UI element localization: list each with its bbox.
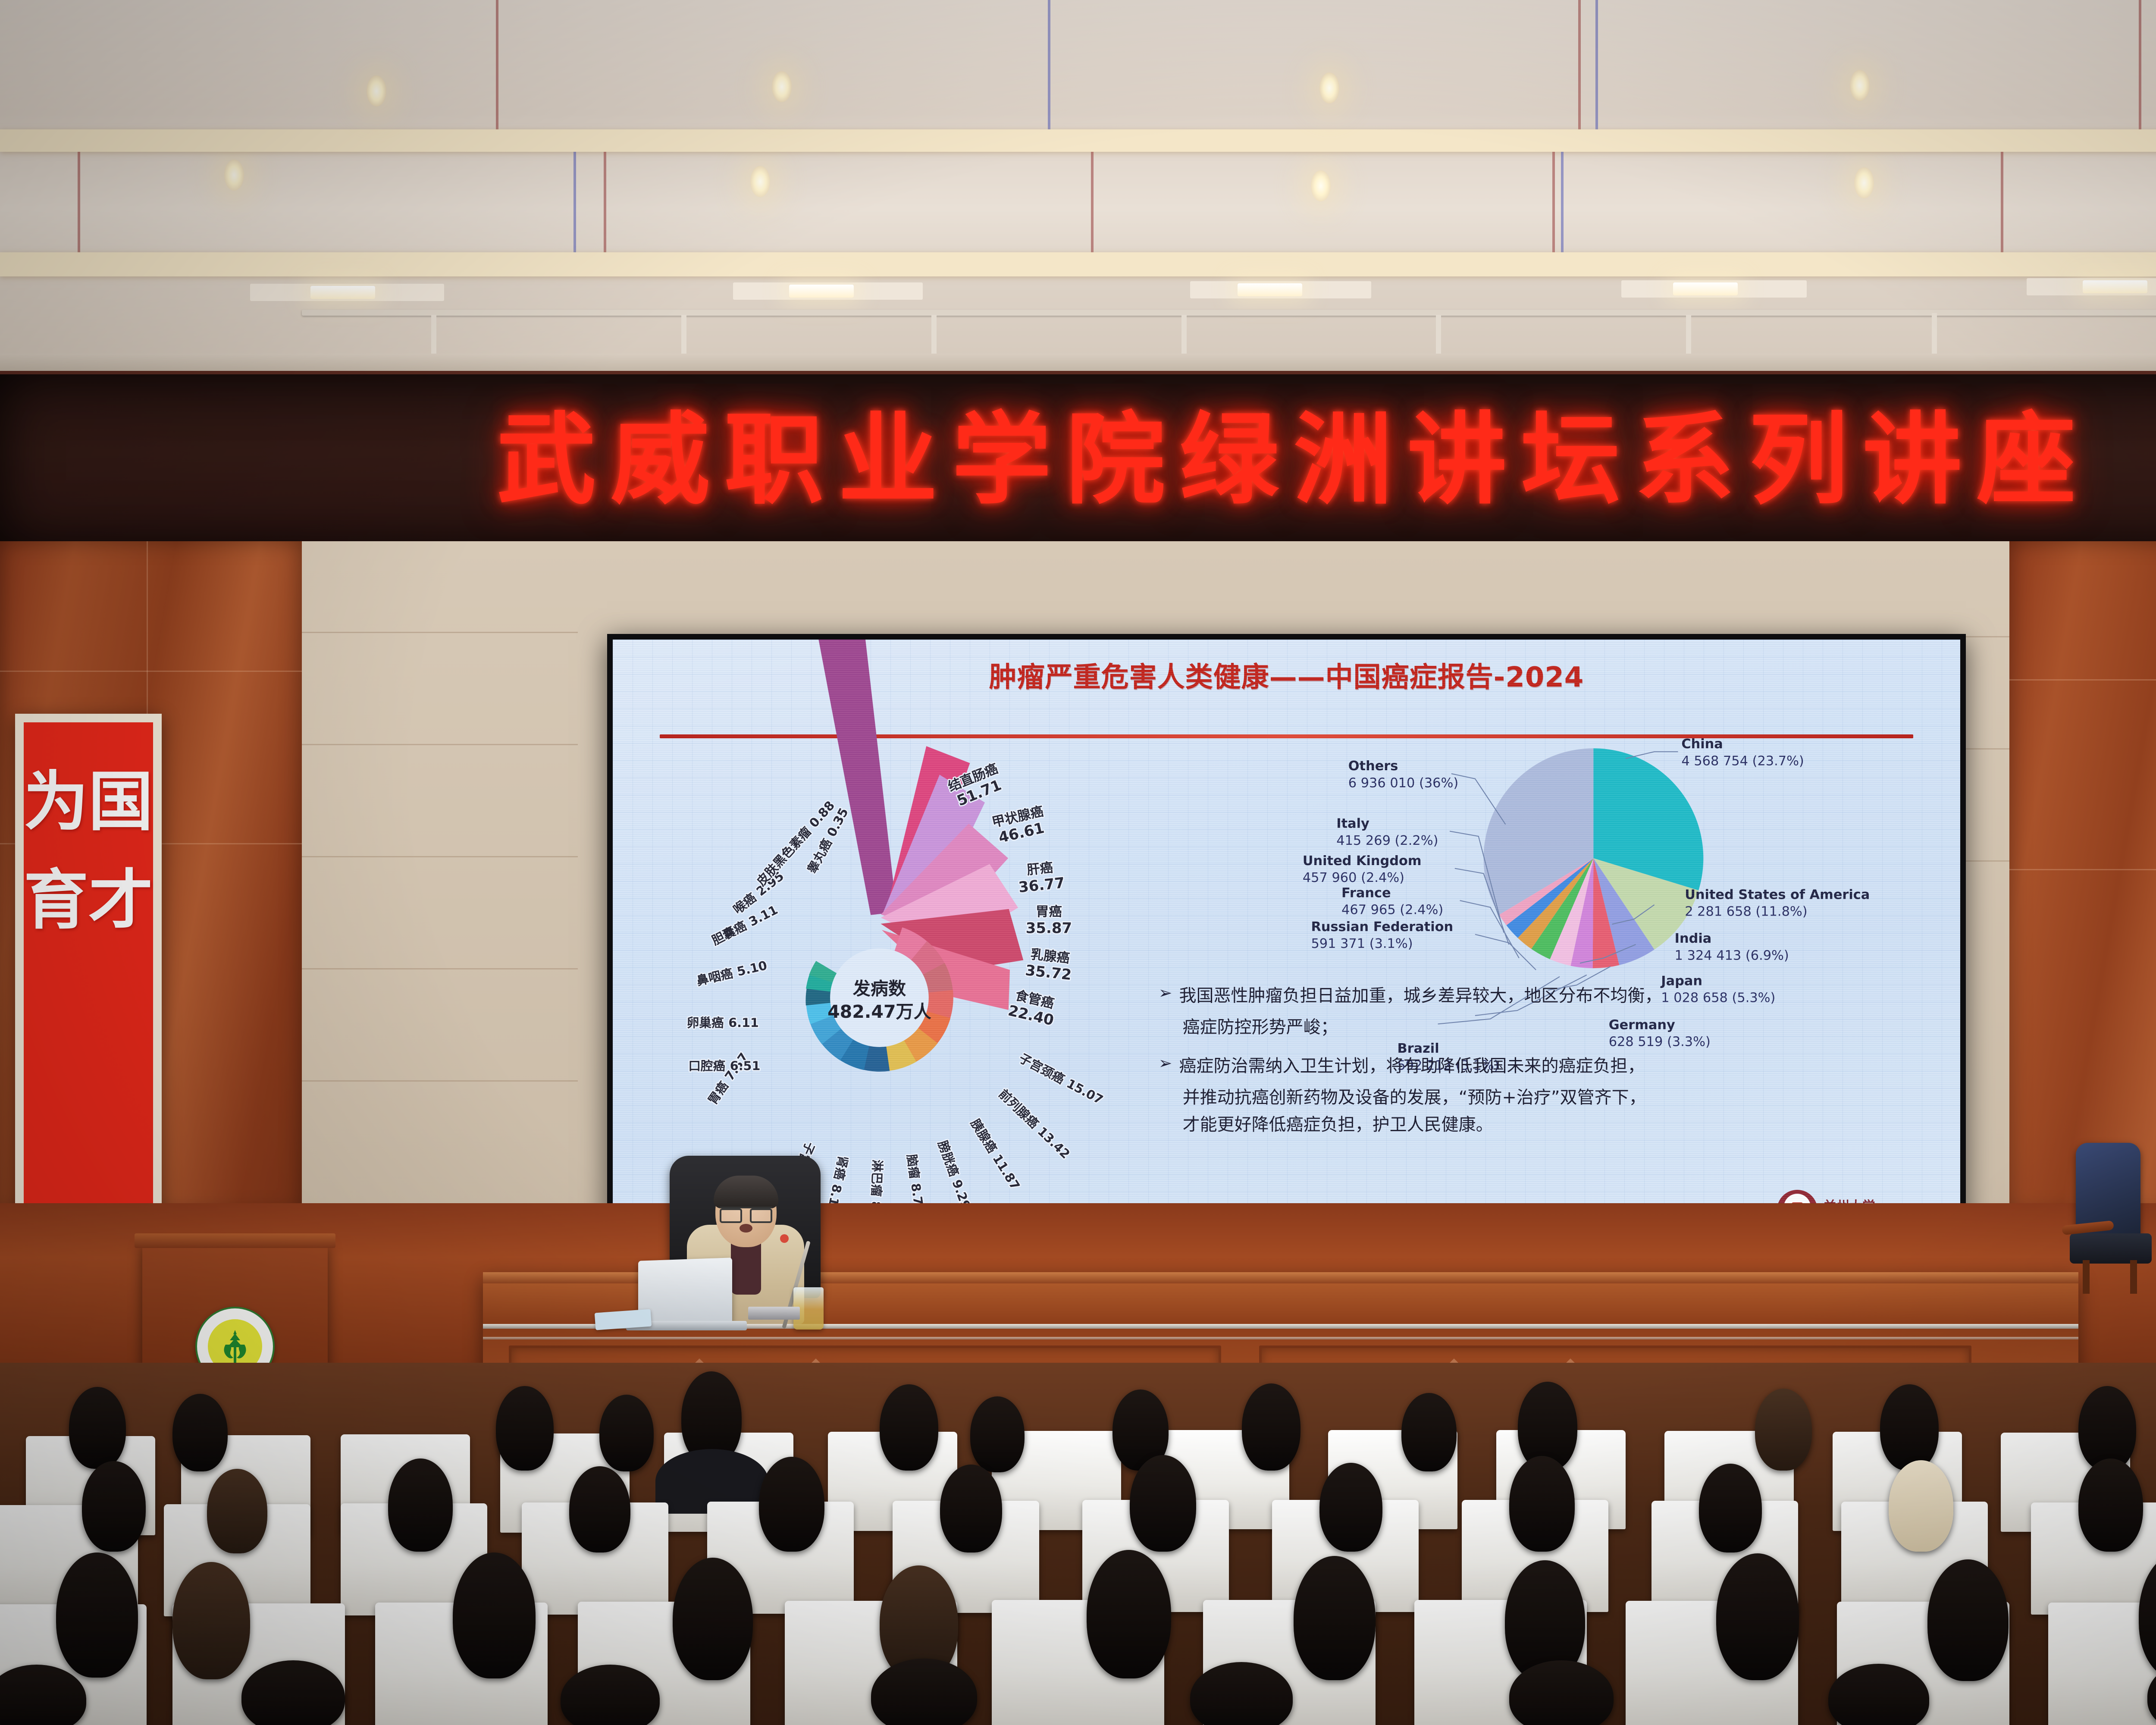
audience-head	[82, 1461, 146, 1552]
bullet-item-1: ➢ 我国恶性肿瘤负担日益加重，城乡差异较大，地区分布不均衡，	[1159, 982, 1940, 1010]
audience-head	[1130, 1455, 1196, 1552]
audience-head	[388, 1458, 453, 1552]
donut-label-nasopharyngeal-name: 鼻咽癌	[695, 966, 734, 988]
couplet-left: 为国育才	[15, 714, 162, 1279]
pie-label-usa-name: United States of America	[1685, 887, 1870, 902]
bullet-2-line-3: 才能更好降低癌症负担，护卫人民健康。	[1159, 1111, 1940, 1138]
pie-label-russia-name: Russian Federation	[1311, 919, 1453, 935]
donut-label-gallbladder-name: 胆囊癌	[709, 918, 749, 948]
donut-label-pancreatic-name: 胰腺癌	[968, 1117, 1000, 1156]
microphone-head-icon	[780, 1234, 789, 1243]
audience-head	[1509, 1456, 1575, 1552]
audience-head	[172, 1394, 228, 1471]
led-banner: 武威职业学院绿洲讲坛系列讲座	[0, 371, 2156, 551]
audience-head	[880, 1384, 938, 1471]
audience-head	[599, 1395, 654, 1471]
donut-label-kidney-name: 肾癌	[831, 1154, 851, 1182]
audience-head	[673, 1558, 753, 1680]
bullet-arrow-icon-2: ➢	[1159, 1055, 1172, 1072]
audience-head	[1716, 1553, 1799, 1680]
led-banner-text: 武威职业学院绿洲讲坛系列讲座	[0, 411, 2156, 510]
bullet-1-line-1: 我国恶性肿瘤负担日益加重，城乡差异较大，地区分布不均衡，	[1179, 982, 1662, 1010]
ceiling-cove-band-1	[0, 129, 2156, 152]
donut-label-prostate-name: 前列腺癌	[996, 1087, 1042, 1132]
audience-head	[1087, 1550, 1171, 1678]
speaker-mouth	[740, 1224, 752, 1233]
pie-label-italy-name: Italy	[1336, 816, 1369, 831]
pie-label-france-name: France	[1341, 885, 1391, 900]
pie-label-france-value: 467 965 (2.4%)	[1341, 903, 1443, 918]
donut-center-value: 482.47万人	[827, 1001, 931, 1022]
audience-head	[1699, 1464, 1762, 1552]
pie-label-russia-value: 591 371 (3.1%)	[1311, 936, 1413, 951]
couplet-left-text: 为国育才	[24, 753, 153, 949]
pie-label-uk-value: 457 960 (2.4%)	[1302, 870, 1404, 885]
speaker-glasses-icon	[720, 1207, 772, 1220]
pie-label-uk-name: United Kingdom	[1302, 853, 1421, 869]
donut-label-stomach-value: 35.87	[1026, 920, 1072, 937]
pie-label-others-name: Others	[1348, 759, 1398, 774]
audience-head	[69, 1387, 126, 1469]
audience-head	[2078, 1386, 2136, 1471]
audience-head	[453, 1552, 536, 1678]
svg-text:胰腺癌11.87: 胰腺癌11.87	[968, 1117, 1023, 1192]
pie-label-italy-value: 415 269 (2.2%)	[1336, 833, 1438, 848]
bullet-arrow-icon: ➢	[1159, 985, 1172, 1001]
audience-head	[496, 1386, 554, 1471]
donut-label-lymphoma-name: 淋巴瘤	[869, 1160, 885, 1197]
bullet-2-line-2: 并推动抗癌创新药物及设备的发展，“预防+治疗”双管齐下，	[1159, 1084, 1940, 1111]
donut-label-gastric2-name: 胃癌	[705, 1079, 731, 1107]
audience-head	[2078, 1458, 2143, 1552]
desk-nameplate	[748, 1307, 800, 1320]
audience-head	[1755, 1389, 1812, 1471]
lighting-truss	[302, 310, 2156, 316]
donut-label-testicular-name: 睾丸癌	[804, 837, 834, 876]
donut-label-cervical-name: 子宫颈癌	[1017, 1051, 1067, 1087]
pie-label-china-name: China	[1681, 737, 1723, 752]
audience-area	[0, 1363, 2156, 1725]
bullet-2-line-1: 癌症防治需纳入卫生计划，将有助降低我国未来的癌症负担，	[1179, 1053, 1645, 1080]
pie-label-others-value: 6 936 010 (36%)	[1348, 775, 1458, 790]
donut-label-cervical-value: 15.07	[1064, 1076, 1106, 1107]
audience-head-beanie	[1889, 1460, 1953, 1552]
donut-label-prostate-value: 13.42	[1034, 1124, 1073, 1161]
slide-bullet-list: ➢ 我国恶性肿瘤负担日益加重，城乡差异较大，地区分布不均衡， 癌症防控形势严峻；…	[1159, 982, 1940, 1138]
audience-head	[172, 1562, 250, 1679]
audience-head	[1927, 1559, 2009, 1681]
audience-head	[759, 1457, 824, 1552]
laptop-screen	[638, 1258, 732, 1326]
ceiling	[0, 0, 2156, 379]
ceiling-cove-band-2	[0, 252, 2156, 276]
donut-label-stomach-name: 胃癌	[1036, 904, 1062, 920]
audience-head	[207, 1469, 267, 1553]
audience-head	[1294, 1556, 1376, 1680]
donut-label-nasopharyngeal-value: 5.10	[736, 958, 768, 979]
pie-label-usa-value: 2 281 658 (11.8%)	[1685, 904, 1807, 919]
pie-label-india-value: 1 324 413 (6.9%)	[1674, 948, 1789, 963]
donut-label-liver-name: 肝癌	[1026, 860, 1053, 878]
donut-center-title: 发病数	[853, 979, 906, 999]
donut-label-brain-name: 脑瘤	[904, 1154, 922, 1180]
svg-text:膀胱癌9.29: 膀胱癌9.29	[935, 1138, 973, 1211]
audience-head	[1242, 1383, 1300, 1471]
audience-head	[970, 1396, 1025, 1472]
bullet-1-line-2: 癌症防控形势严峻；	[1159, 1014, 1940, 1041]
audience-head	[1401, 1393, 1457, 1471]
side-office-chair	[2065, 1143, 2156, 1289]
audience-head	[569, 1466, 630, 1552]
donut-label-pancreatic-value: 11.87	[990, 1152, 1023, 1193]
audience-head	[1880, 1384, 1939, 1471]
bullet-item-2: ➢ 癌症防治需纳入卫生计划，将有助降低我国未来的癌症负担，	[1159, 1053, 1940, 1080]
donut-label-bladder-name: 膀胱癌	[935, 1138, 962, 1179]
audience-head	[1319, 1463, 1382, 1552]
speaker-head	[715, 1176, 777, 1247]
donut-label-oral: 口腔癌6.51	[688, 1059, 760, 1073]
donut-label-ovarian: 卵巢癌6.11	[687, 1016, 759, 1030]
audience-head	[940, 1465, 1002, 1552]
donut-label-liver-value: 36.77	[1018, 875, 1065, 897]
lecture-hall-photo: 武威职业学院绿洲讲坛系列讲座 为国育才 为党育人	[0, 0, 2156, 1725]
chart-china-incidence-donut: 发病数 482.47万人 肺癌 106.06 结直肠癌 51.71 甲状腺癌 4…	[633, 743, 1172, 1221]
projection-screen: 肿瘤严重危害人类健康——中国癌症报告-2024	[613, 640, 1960, 1252]
svg-text:鼻咽癌5.10: 鼻咽癌5.10	[695, 958, 768, 988]
pie-label-china-value: 4 568 754 (23.7%)	[1681, 753, 1804, 768]
audience-head	[56, 1552, 138, 1678]
pie-label-india-name: India	[1674, 931, 1711, 946]
svg-text:子宫颈癌15.07: 子宫颈癌15.07	[1017, 1051, 1106, 1107]
svg-text:前列腺癌13.42: 前列腺癌13.42	[996, 1087, 1073, 1162]
